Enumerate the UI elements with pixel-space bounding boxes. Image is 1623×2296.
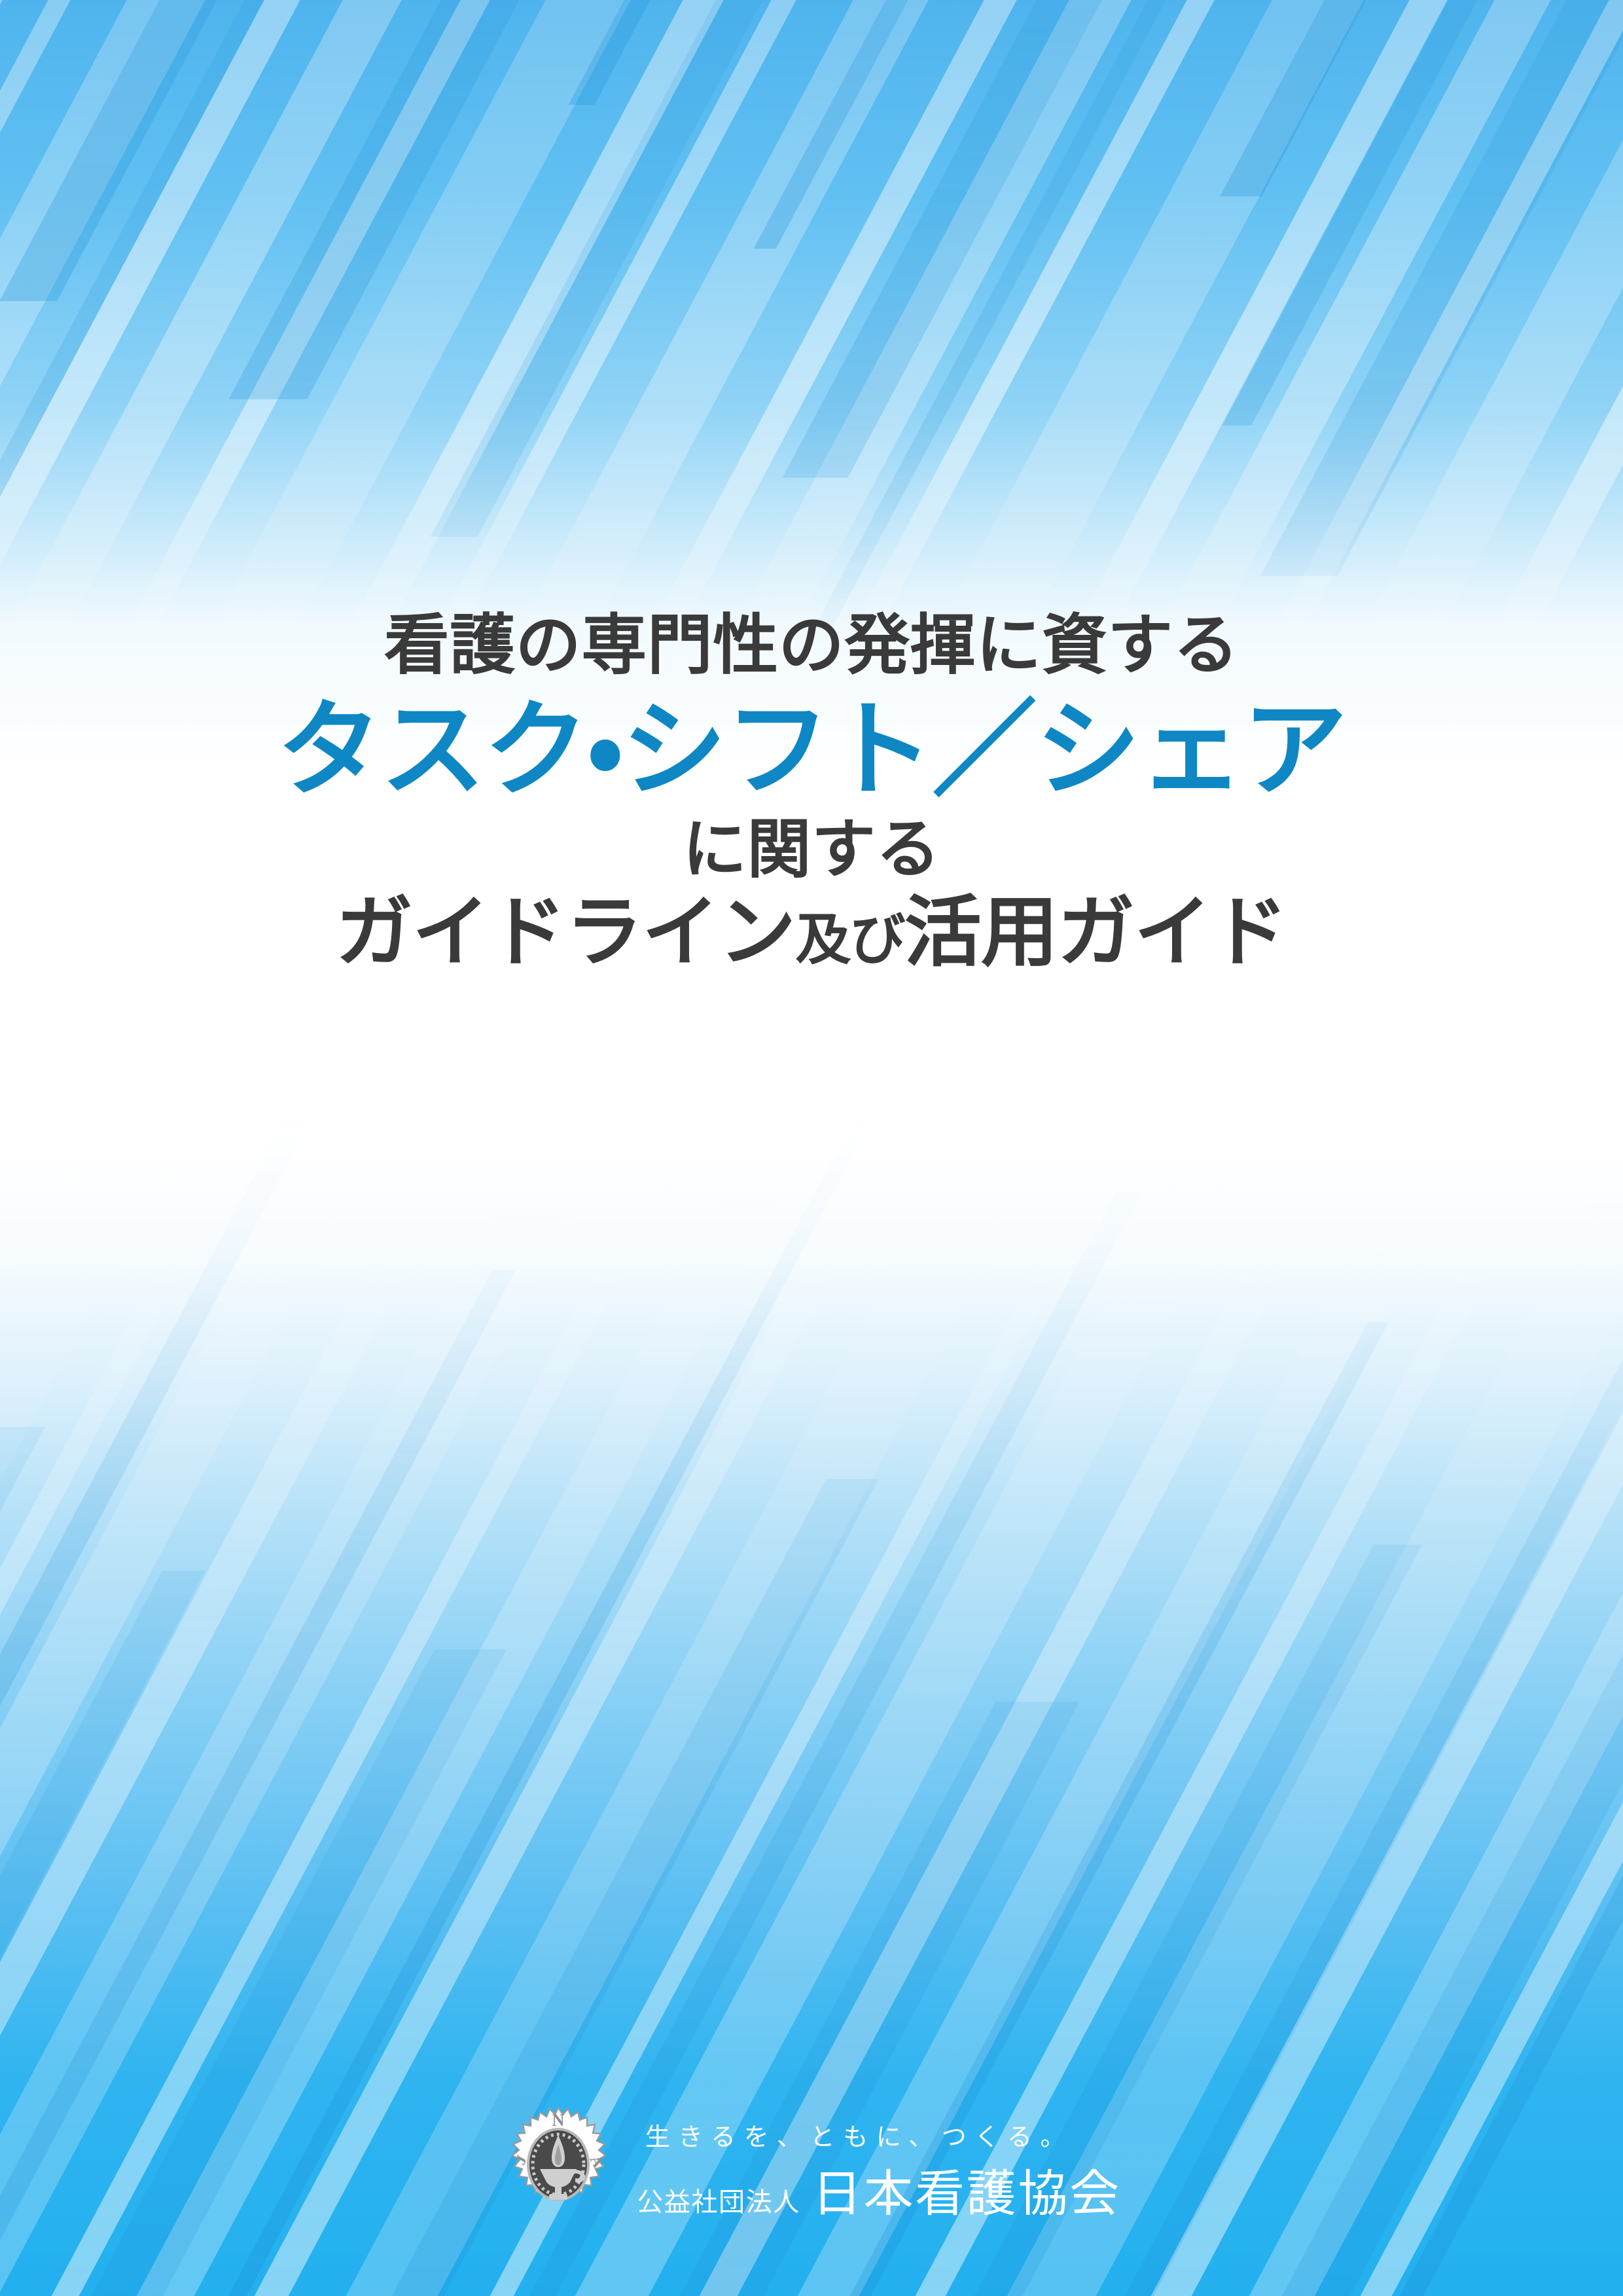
organization-text-block: 生きるを、ともに、つくる。 公益社団法人 日本看護協会	[637, 2113, 1121, 2219]
title-line-main: タスク・シフト／シェア	[0, 694, 1623, 807]
emblem-letter-n: N	[552, 2111, 565, 2130]
organization-name: 日本看護協会	[812, 2170, 1121, 2219]
cover-title-block: 看護の専門性の発揮に資する タスク・シフト／シェア に関する ガイドライン及び活…	[0, 609, 1623, 976]
title-line-lead: 看護の専門性の発揮に資する	[0, 609, 1623, 682]
title-subtitle-part-and: 及び	[795, 909, 904, 971]
organization-name-line: 公益社団法人 日本看護協会	[637, 2170, 1121, 2219]
organization-logo-lockup: N J A	[0, 2106, 1623, 2225]
title-subtitle-part-usageguide: 活用ガイド	[904, 889, 1287, 976]
cover-page: 看護の専門性の発揮に資する タスク・シフト／シェア に関する ガイドライン及び活…	[0, 0, 1623, 2296]
organization-legal-prefix: 公益社団法人	[637, 2181, 800, 2219]
jna-lamp-emblem-icon: N J A	[502, 2106, 615, 2225]
background-graphic	[0, 0, 1623, 2296]
title-line-connector: に関する	[0, 814, 1623, 886]
organization-tagline: 生きるを、ともに、つくる。	[637, 2117, 1121, 2153]
title-subtitle-part-guideline: ガイドライン	[336, 889, 795, 976]
title-line-subtitle: ガイドライン及び活用ガイド	[0, 889, 1623, 976]
